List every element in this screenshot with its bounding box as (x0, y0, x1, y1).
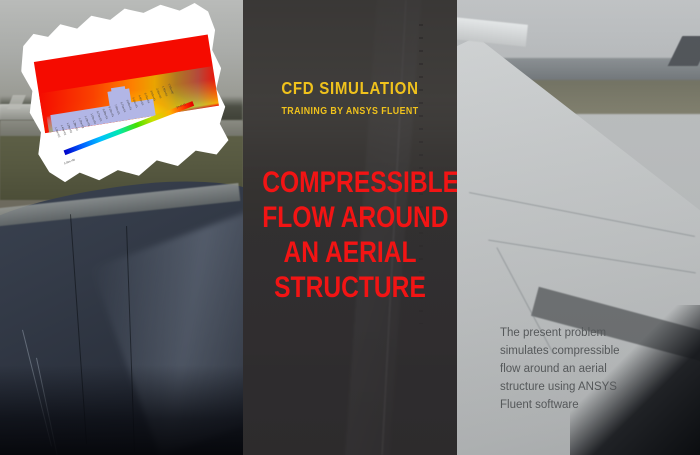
kicker-heading: CFD SIMULATION (258, 78, 442, 99)
poster: 1.50e+02 1.43e+02 1.35e+02 1.28e+02 1.20… (0, 0, 700, 455)
description-line: simulates compressible (500, 342, 660, 360)
title-line: COMPRESSIBLE (262, 165, 437, 200)
bottom-shadow (0, 365, 243, 455)
description-line: structure using ANSYS (500, 378, 660, 396)
left-photo-panel: 1.50e+02 1.43e+02 1.35e+02 1.28e+02 1.20… (0, 0, 243, 455)
description-line: Fluent software (500, 396, 660, 414)
title-line: STRUCTURE (262, 270, 437, 305)
description-line: flow around an aerial (500, 360, 660, 378)
right-photo-panel: The present problem simulates compressib… (457, 0, 700, 455)
title-line: FLOW AROUND (262, 200, 437, 235)
description-line: The present problem (500, 324, 660, 342)
center-title-panel: CFD SIMULATION TRAINING BY ANSYS FLUENT … (243, 0, 457, 455)
colorbar-low-label: 0.00e+00 (64, 158, 76, 165)
page-title: COMPRESSIBLE FLOW AROUND AN AERIAL STRUC… (262, 165, 437, 305)
title-line: AN AERIAL (262, 235, 437, 270)
sub-kicker-heading: TRAINING BY ANSYS FLUENT (260, 105, 440, 117)
torn-paper-shape: 1.50e+02 1.43e+02 1.35e+02 1.28e+02 1.20… (13, 0, 238, 197)
cfd-contour-plot: 1.50e+02 1.43e+02 1.35e+02 1.28e+02 1.20… (13, 0, 238, 197)
description-text: The present problem simulates compressib… (500, 324, 660, 414)
